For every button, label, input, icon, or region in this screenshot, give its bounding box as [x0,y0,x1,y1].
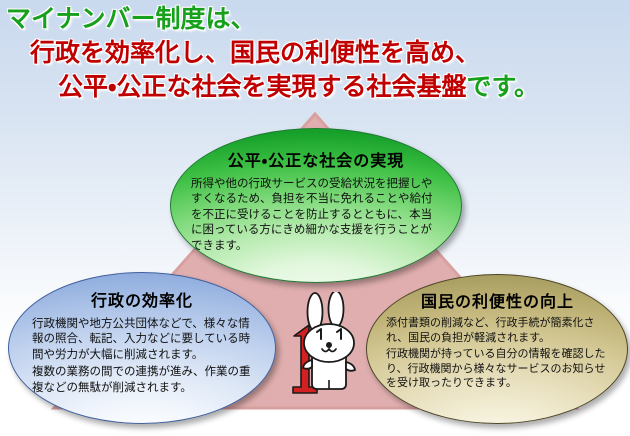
bubble-efficiency-title: 行政の効率化 [32,287,252,311]
bubble-convenience-body: 添付書類の削減など、行政手続が簡素化され、国民の負担が軽減されます。 行政機関が… [386,316,609,393]
bubble-convenience-paragraph: 行政機関が持っている自分の情報を確認したり、行政機関から様々なサービスのお知らせ… [386,347,609,391]
bubble-efficiency[interactable]: 行政の効率化 行政機関や地方公共団体などで、様々な情報の照合、転記、入力などに要… [8,272,276,424]
headline-line-1: マイナンバー制度は、 [0,2,630,36]
headline-line-3-green: です。 [467,72,540,101]
headline-line-3: 公平・公正な社会を実現する社会基盤です。 [0,70,630,104]
mascot-head [304,324,354,362]
infographic-canvas: マイナンバー制度は、 行政を効率化し、国民の利便性を高め、 公平・公正な社会を実… [0,0,630,436]
bubble-fairness-title: 公平・公正な社会の実現 [191,147,441,171]
bubble-fairness-body: 所得や他の行政サービスの受給状況を把握しやすくなるため、負担を不当に免れることや… [191,176,441,255]
bubble-efficiency-paragraph: 複数の業務の間での連携が進み、作業の重複などの無駄が削減されます。 [32,364,252,395]
bubble-fairness[interactable]: 公平・公正な社会の実現 所得や他の行政サービスの受給状況を把握しやすくなるため、… [170,128,462,283]
bubble-convenience-title: 国民の利便性の向上 [386,288,609,312]
headline-line-3-red: 公平・公正な社会を実現する社会基盤 [58,72,467,101]
bubble-convenience-paragraph: 添付書類の削減など、行政手続が簡素化され、国民の負担が軽減されます。 [386,316,609,345]
bubble-convenience[interactable]: 国民の利便性の向上 添付書類の削減など、行政手続が簡素化され、国民の負担が軽減さ… [366,274,628,424]
bubble-fairness-paragraph: 所得や他の行政サービスの受給状況を把握しやすくなるため、負担を不当に免れることや… [191,176,441,253]
headline-line-2: 行政を効率化し、国民の利便性を高め、 [0,36,630,70]
rabbit-mascot-icon [284,292,364,397]
headline-block: マイナンバー制度は、 行政を効率化し、国民の利便性を高め、 公平・公正な社会を実… [0,2,630,104]
bubble-efficiency-paragraph: 行政機関や地方公共団体などで、様々な情報の照合、転記、入力などに要している時間や… [32,316,252,362]
bubble-efficiency-body: 行政機関や地方公共団体などで、様々な情報の照合、転記、入力などに要している時間や… [32,316,252,397]
